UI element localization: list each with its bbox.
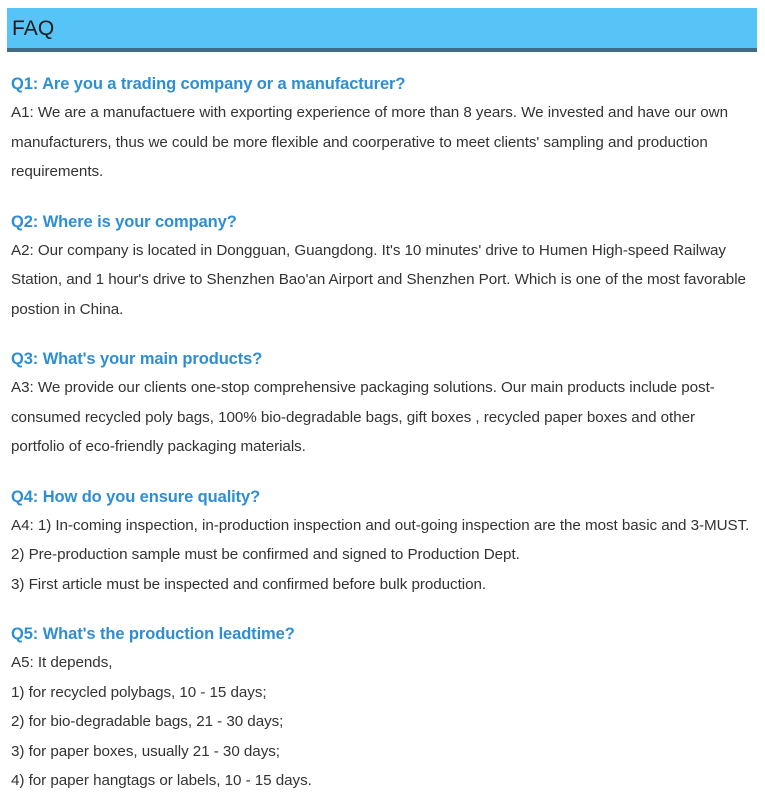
faq-answer-paragraph: 3) for paper boxes, usually 21 - 30 days… [11, 737, 751, 767]
faq-answer-paragraph: 4) for paper hangtags or labels, 10 - 15… [11, 766, 751, 796]
faq-item-5: Q5: What's the production leadtime? A5: … [11, 621, 751, 796]
faq-answer-3: A3: We provide our clients one-stop comp… [11, 373, 751, 462]
faq-answer-paragraph: 3) First article must be inspected and c… [11, 570, 751, 600]
faq-answer-paragraph: A4: 1) In-coming inspection, in-producti… [11, 511, 751, 541]
faq-answer-paragraph: A1: We are a manufactuere with exporting… [11, 98, 751, 187]
faq-banner-title: FAQ [7, 18, 54, 39]
faq-answer-paragraph: A3: We provide our clients one-stop comp… [11, 373, 751, 462]
faq-answer-2: A2: Our company is located in Dongguan, … [11, 236, 751, 325]
faq-answer-paragraph: 1) for recycled polybags, 10 - 15 days; [11, 678, 751, 708]
faq-list: Q1: Are you a trading company or a manuf… [0, 71, 765, 796]
faq-banner: FAQ [7, 8, 757, 52]
faq-answer-4: A4: 1) In-coming inspection, in-producti… [11, 511, 751, 600]
faq-question-1: Q1: Are you a trading company or a manuf… [11, 71, 751, 97]
faq-answer-paragraph: A5: It depends, [11, 648, 751, 678]
faq-question-3: Q3: What's your main products? [11, 346, 751, 372]
faq-page: FAQ Q1: Are you a trading company or a m… [0, 8, 765, 756]
faq-item-4: Q4: How do you ensure quality? A4: 1) In… [11, 484, 751, 600]
faq-item-2: Q2: Where is your company? A2: Our compa… [11, 209, 751, 325]
faq-answer-paragraph: 2) for bio-degradable bags, 21 - 30 days… [11, 707, 751, 737]
faq-answer-1: A1: We are a manufactuere with exporting… [11, 98, 751, 187]
faq-answer-paragraph: A2: Our company is located in Dongguan, … [11, 236, 751, 325]
faq-question-5: Q5: What's the production leadtime? [11, 621, 751, 647]
faq-answer-5: A5: It depends, 1) for recycled polybags… [11, 648, 751, 796]
faq-question-4: Q4: How do you ensure quality? [11, 484, 751, 510]
faq-question-2: Q2: Where is your company? [11, 209, 751, 235]
faq-answer-paragraph: 2) Pre-production sample must be confirm… [11, 540, 751, 570]
faq-item-3: Q3: What's your main products? A3: We pr… [11, 346, 751, 462]
faq-item-1: Q1: Are you a trading company or a manuf… [11, 71, 751, 187]
